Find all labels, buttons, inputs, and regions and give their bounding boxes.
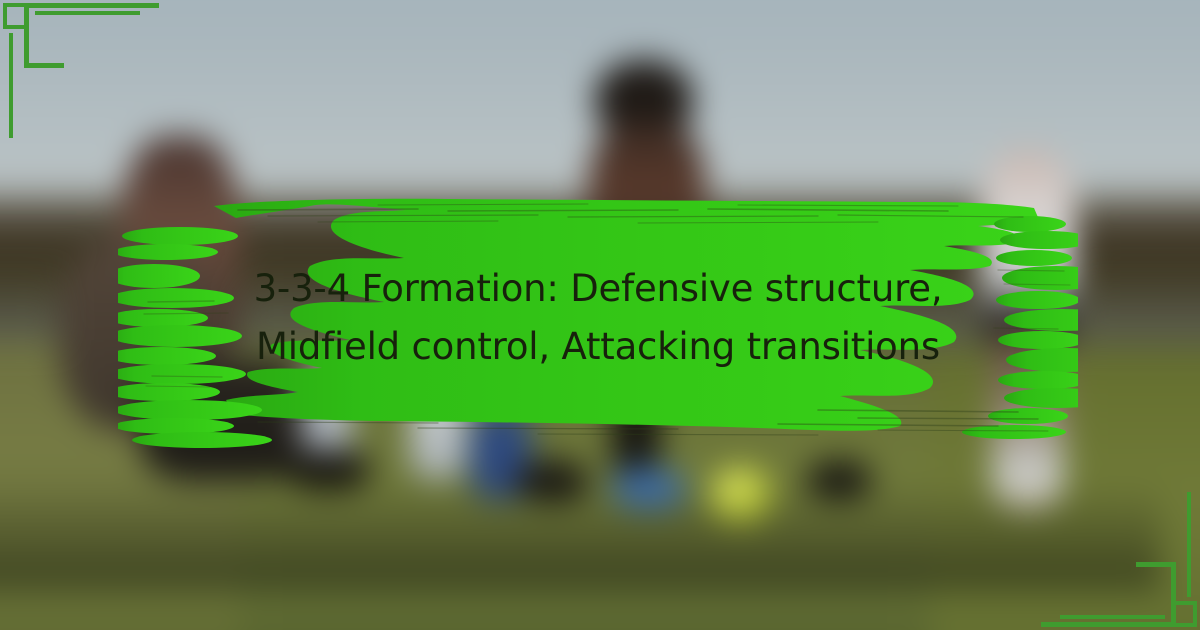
ornament-inner-line-vertical-top-left [9, 33, 13, 138]
green-brush-stroke-banner [118, 178, 1078, 458]
brush-right-edge-fingers [962, 216, 1078, 439]
foreground-shadow-band [0, 480, 1160, 590]
brush-stroke-shape [118, 178, 1078, 458]
ornament-bracket-foot-bottom-right [1136, 562, 1176, 567]
ornament-bracket-horizontal-bottom-right [1041, 622, 1171, 627]
ornament-bracket-vertical-bottom-right [1171, 562, 1176, 627]
ornament-inner-line-horizontal-top-left [35, 11, 140, 15]
corner-ornament-bottom-right [1030, 500, 1200, 630]
ornament-bracket-foot-top-left [24, 63, 64, 68]
ornament-bracket-vertical-top-left [24, 3, 29, 68]
corner-ornament-top-left [0, 0, 170, 130]
brush-left-edge-fingers [118, 227, 272, 448]
brush-stroke-body [214, 199, 1040, 431]
ornament-bracket-horizontal-top-left [29, 3, 159, 8]
ornament-inner-line-horizontal-bottom-right [1060, 615, 1165, 619]
ornament-inner-line-vertical-bottom-right [1187, 492, 1191, 597]
poster-canvas: 3-3-4 Formation: Defensive structure, Mi… [0, 0, 1200, 630]
